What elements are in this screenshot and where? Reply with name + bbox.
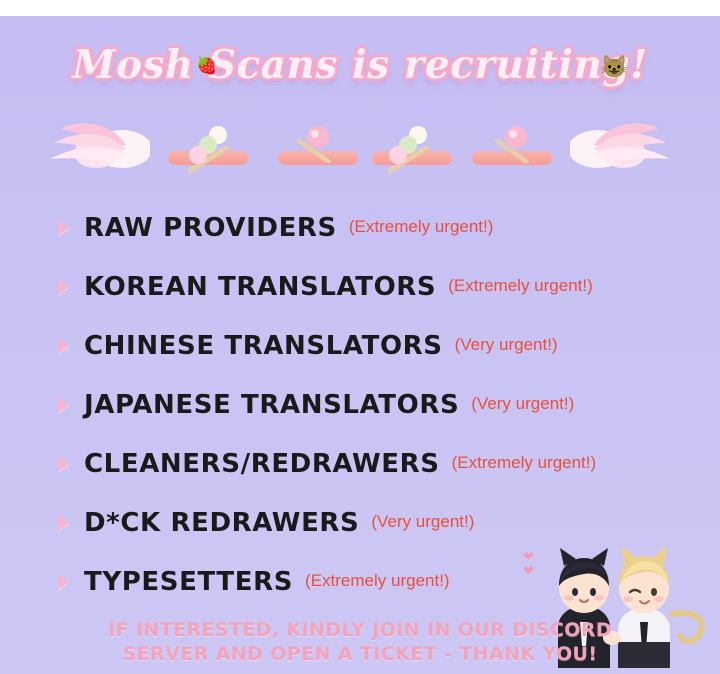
role-urgency: (Very urgent!) [471,394,574,416]
footer-note: IF INTERESTED, KINDLY JOIN IN OUR DISCOR… [0,618,720,666]
dango-candy-icon [178,119,242,179]
arrow-right-icon [58,279,69,295]
footer-line-2: SERVER AND OPEN A TICKET - THANK YOU! [0,642,720,666]
top-white-strip [0,0,720,16]
role-urgency: (Extremely urgent!) [349,217,494,239]
arrow-right-icon [58,456,69,472]
role-name: D*CK REDRAWERS [84,508,359,538]
list-item: CLEANERS/REDRAWERS (Extremely urgent!) [0,434,720,493]
role-name: KOREAN TRANSLATORS [84,272,436,302]
wing-icon [570,115,690,179]
role-name: CLEANERS/REDRAWERS [84,449,440,479]
role-urgency: (Extremely urgent!) [448,276,593,298]
wing-icon [30,115,150,179]
list-item: KOREAN TRANSLATORS (Extremely urgent!) [0,257,720,316]
role-name: TYPESETTERS [84,567,293,597]
lollipop-candy-icon [478,119,542,179]
decorative-divider [0,111,720,189]
role-urgency: (Very urgent!) [455,335,558,357]
poster-heading-area: Mosh Scans is recruiting! 🍓 😺 [0,42,720,88]
arrow-right-icon [58,397,69,413]
role-name: CHINESE TRANSLATORS [84,331,443,361]
role-urgency: (Extremely urgent!) [305,571,450,593]
role-urgency: (Very urgent!) [371,512,474,534]
role-urgency: (Extremely urgent!) [452,453,597,475]
page-title: Mosh Scans is recruiting! [72,42,647,88]
footer-line-1: IF INTERESTED, KINDLY JOIN IN OUR DISCOR… [0,618,720,642]
arrow-right-icon [58,338,69,354]
list-item: CHINESE TRANSLATORS (Very urgent!) [0,316,720,375]
list-item: JAPANESE TRANSLATORS (Very urgent!) [0,375,720,434]
lollipop-candy-icon [280,119,344,179]
arrow-right-icon [58,574,69,590]
dango-candy-icon [378,119,442,179]
recruitment-poster: Mosh Scans is recruiting! 🍓 😺 [0,16,720,674]
list-item: RAW PROVIDERS (Extremely urgent!) [0,198,720,257]
role-name: JAPANESE TRANSLATORS [84,390,459,420]
strawberry-icon: 🍓 [196,56,217,76]
cat-face-icon: 😺 [601,54,628,80]
arrow-right-icon [58,515,69,531]
role-name: RAW PROVIDERS [84,213,337,243]
arrow-right-icon [58,220,69,236]
